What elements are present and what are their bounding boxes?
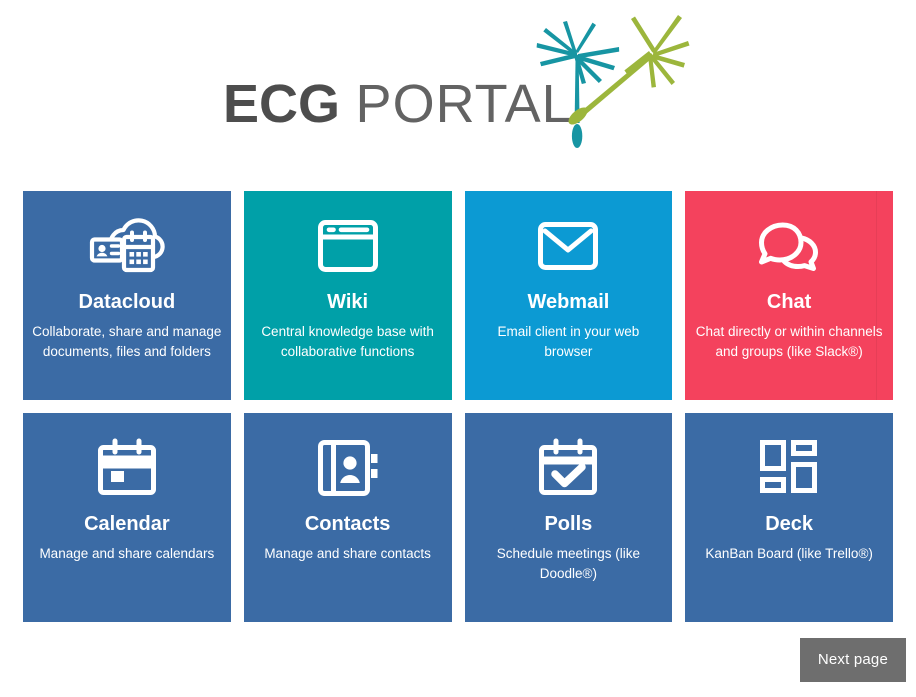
page-footer: Next page: [0, 622, 916, 697]
tile-description: Schedule meetings (like Doodle®): [473, 544, 665, 583]
page-header: ECG PORTAL: [0, 0, 916, 186]
tile-title: Polls: [544, 513, 592, 536]
app-tile-polls[interactable]: Polls Schedule meetings (like Doodle®): [465, 413, 673, 622]
calendar-icon: [96, 437, 158, 499]
app-tile-webmail[interactable]: Webmail Email client in your web browser: [465, 191, 673, 400]
tile-title: Datacloud: [79, 291, 176, 314]
app-tile-grid: Datacloud Collaborate, share and manage …: [23, 191, 893, 622]
app-tile-wiki[interactable]: Wiki Central knowledge base with collabo…: [244, 191, 452, 400]
green-dandelion-icon: [566, 15, 690, 128]
kanban-board-icon: [759, 437, 819, 499]
dandelion-mark-icon: [523, 11, 693, 176]
ecg-portal-logo: ECG PORTAL: [223, 11, 693, 176]
tile-description: Manage and share calendars: [39, 544, 214, 564]
app-tile-datacloud[interactable]: Datacloud Collaborate, share and manage …: [23, 191, 231, 400]
scrollbar-hairline: [876, 191, 877, 400]
cloud-contacts-calendar-icon: [88, 215, 166, 277]
app-tile-contacts[interactable]: Contacts Manage and share contacts: [244, 413, 452, 622]
tile-title: Deck: [765, 513, 813, 536]
logo-primary-text: ECG: [223, 74, 340, 134]
calendar-check-icon: [537, 437, 599, 499]
app-tile-calendar[interactable]: Calendar Manage and share calendars: [23, 413, 231, 622]
envelope-icon: [537, 215, 599, 277]
tile-description: Manage and share contacts: [264, 544, 431, 564]
app-tile-deck[interactable]: Deck KanBan Board (like Trello®): [685, 413, 893, 622]
tile-description: Collaborate, share and manage documents,…: [31, 322, 223, 361]
tile-title: Wiki: [327, 291, 368, 314]
tile-description: Central knowledge base with collaborativ…: [252, 322, 444, 361]
tile-description: Email client in your web browser: [473, 322, 665, 361]
teal-dandelion-icon: [537, 21, 620, 148]
address-book-icon: [316, 437, 380, 499]
speech-bubbles-icon: [757, 215, 821, 277]
tile-title: Chat: [767, 291, 811, 314]
tile-title: Webmail: [527, 291, 609, 314]
tile-description: KanBan Board (like Trello®): [705, 544, 873, 564]
app-tile-chat[interactable]: Chat Chat directly or within channels an…: [685, 191, 893, 400]
next-page-button[interactable]: Next page: [800, 638, 906, 682]
tile-title: Calendar: [84, 513, 170, 536]
portal-page: ECG PORTAL: [0, 0, 916, 697]
logo-wordmark: ECG PORTAL: [223, 77, 573, 131]
tile-description: Chat directly or within channels and gro…: [693, 322, 885, 361]
browser-window-icon: [317, 215, 379, 277]
tile-title: Contacts: [305, 513, 391, 536]
